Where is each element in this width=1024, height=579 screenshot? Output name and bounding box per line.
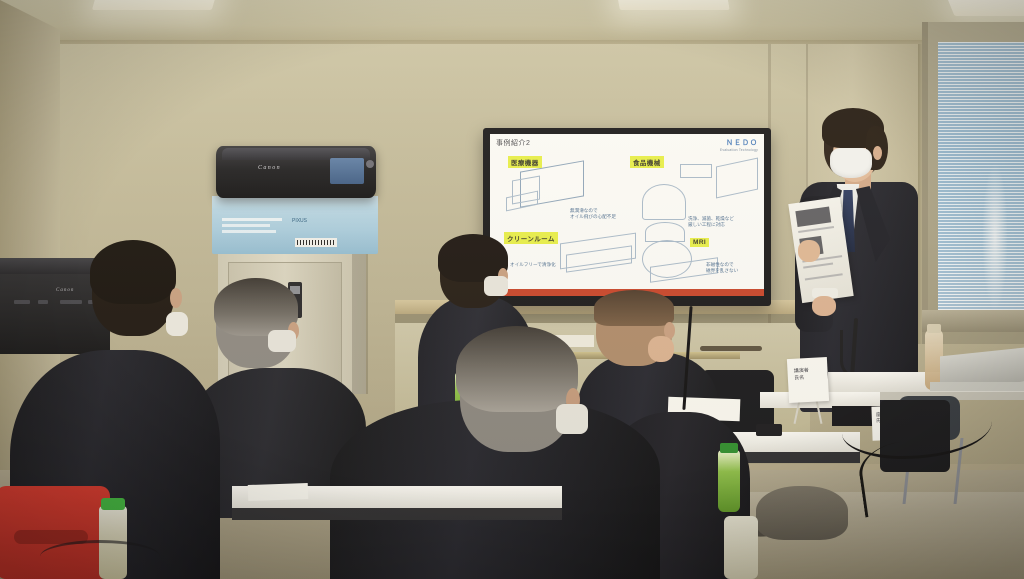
box-print-line-3 (222, 230, 276, 233)
clear-plastic-bottle-cap[interactable] (101, 498, 125, 510)
attendee-mid-left-hair (214, 278, 298, 336)
label-food: 食品機械 (630, 156, 664, 168)
ceiling-light-right (946, 0, 1024, 16)
presenter-hand-upper (798, 240, 820, 262)
box-barcode (297, 240, 335, 245)
printer-brand-text-left: Canon (56, 288, 74, 293)
presenter-ear (873, 146, 882, 160)
slide-logo-text: ＮＥＤＯ (720, 138, 758, 148)
tea-bottle-green-2[interactable] (718, 450, 740, 512)
printer-button-2[interactable] (38, 300, 48, 304)
marker-pen[interactable] (700, 346, 762, 351)
sketch-food-diagram (680, 164, 712, 178)
product-box-lid (212, 196, 378, 210)
ceiling-light-center (616, 0, 730, 10)
floor-cable-left (40, 540, 160, 573)
box-print-line-2 (222, 224, 270, 227)
handout-image-1 (795, 206, 831, 227)
caption-food: 洗浄、滅菌、乾燥など 厳しい工程に対応 (688, 216, 734, 228)
slide-title: 事例紹介2 (496, 138, 530, 148)
slide-logo-subtitle: Evaluation Technology (720, 148, 758, 152)
handout-papers-front[interactable] (248, 483, 309, 501)
label-medical: 医療機器 (508, 156, 542, 168)
laptop-base[interactable] (930, 382, 1024, 391)
window-blinds[interactable] (938, 42, 1024, 310)
caption-cleanroom: オイルフリーで清浄化 (510, 262, 556, 268)
attendee-front-left-hair (90, 240, 176, 304)
window-light-glow (982, 162, 1008, 310)
printer-button-1[interactable] (14, 300, 30, 304)
sketch-food-box (716, 158, 758, 199)
sketch-medical-table (506, 191, 538, 212)
clear-bottle-front[interactable] (724, 516, 758, 579)
slide-logo: ＮＥＤＯ Evaluation Technology (720, 138, 758, 152)
safe-side-shadow (352, 252, 368, 394)
tv-screen[interactable]: 事例紹介2 ＮＥＤＯ Evaluation Technology 医療機器 無潤… (490, 134, 764, 296)
handout-text-line (798, 226, 834, 233)
handout-text-line-4 (805, 273, 843, 280)
presenter-hand-lower (812, 296, 836, 316)
ceiling-light-left (92, 0, 218, 10)
printer-brand-text: Canon (258, 165, 281, 171)
printer-power-button[interactable] (366, 160, 374, 168)
window-glass (938, 42, 1024, 310)
caption-medical: 無潤滑なので オイル飛びの心配不足 (570, 208, 616, 220)
baseball-cap[interactable] (756, 486, 848, 540)
handout-text-line-3 (803, 262, 833, 268)
attendee-center-mask (484, 276, 508, 296)
white-face-mask (830, 148, 872, 178)
name-card-front-text: 講演者 氏名 (794, 368, 810, 383)
box-print-line (222, 218, 282, 221)
label-cleanroom: クリーンルーム (504, 232, 558, 244)
remote-control[interactable] (756, 424, 782, 436)
attendee-foreground-hair (456, 326, 578, 412)
sketch-food-bowl (642, 184, 686, 220)
desk-front-edge (232, 508, 562, 520)
attendee-foreground-mask (556, 404, 588, 434)
attendee-center-right-hair (594, 290, 674, 326)
caption-mri: 非磁性なので 磁界を乱さない (706, 262, 738, 274)
box-model-text: PIXUS (292, 218, 307, 224)
water-bottle-cap[interactable] (927, 324, 941, 333)
printer-display-screen[interactable] (330, 158, 364, 184)
attendee-front-left-ear (170, 288, 182, 308)
attendee-mid-left-mask (268, 330, 296, 352)
tea-bottle-green-2-cap[interactable] (720, 443, 738, 453)
presentation-room-photo: 事例紹介2 ＮＥＤＯ Evaluation Technology 医療機器 無潤… (0, 0, 1024, 579)
attendee-front-left-mask (166, 312, 188, 336)
sketch-food-dome (645, 222, 685, 242)
printer-button-3[interactable] (60, 300, 82, 304)
attendee-center-right-hand (648, 336, 674, 362)
label-mri: MRI (690, 238, 709, 247)
